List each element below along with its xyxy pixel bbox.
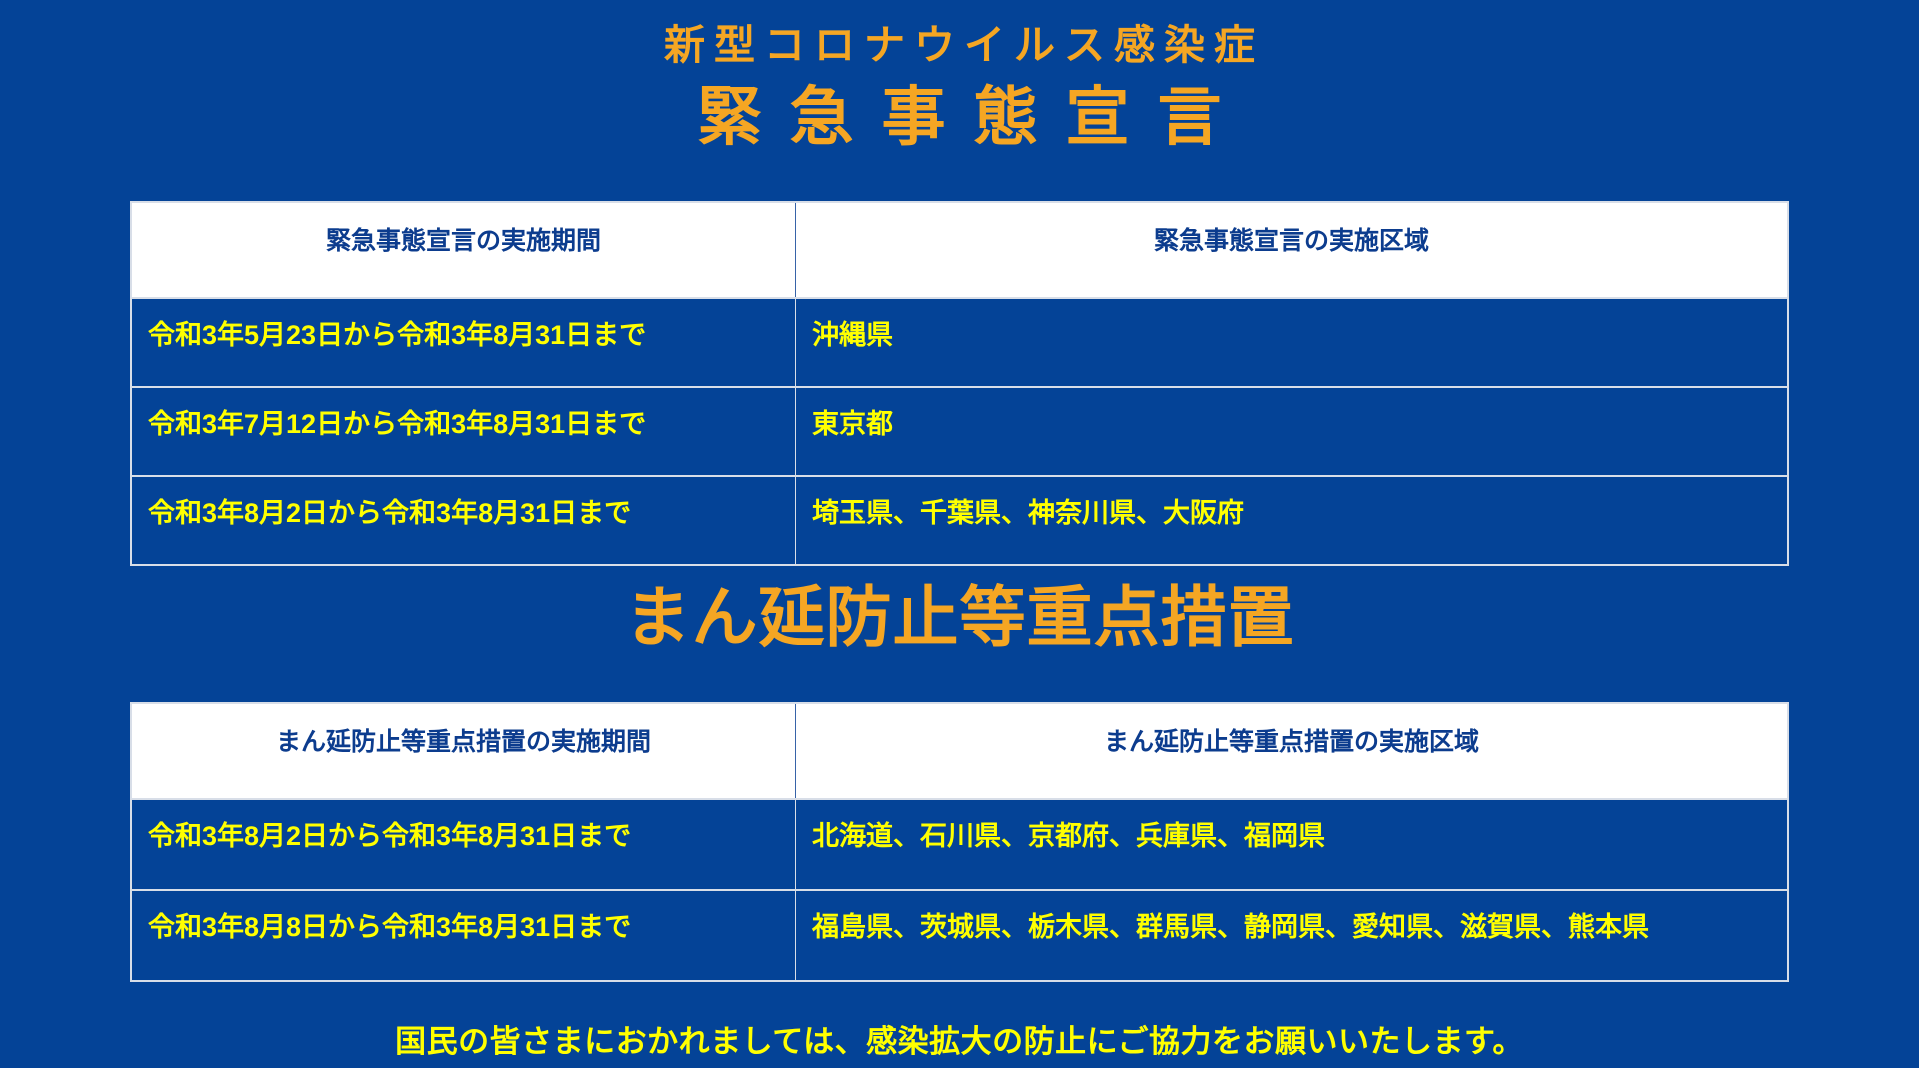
declaration-area-3: 埼玉県、千葉県、神奈川県、大阪府 <box>796 475 1787 564</box>
priority-table-body: 令和3年8月2日から令和3年8月31日まで 北海道、石川県、京都府、兵庫県、福岡… <box>132 798 1787 980</box>
spacer-above-declaration-table <box>0 157 1919 201</box>
priority-table-wrap: まん延防止等重点措置の実施期間 まん延防止等重点措置の実施区域 令和3年8月2日… <box>130 702 1789 982</box>
declaration-table: 緊急事態宣言の実施期間 緊急事態宣言の実施区域 令和3年5月23日から令和3年8… <box>130 201 1789 566</box>
priority-area-2: 福島県、茨城県、栃木県、群馬県、静岡県、愛知県、滋賀県、熊本県 <box>796 889 1787 980</box>
poster-main-title: 緊急事態宣言 <box>0 77 1919 157</box>
declaration-header-period: 緊急事態宣言の実施期間 <box>132 203 796 297</box>
declaration-table-body: 令和3年5月23日から令和3年8月31日まで 沖縄県 令和3年7月12日から令和… <box>132 297 1787 564</box>
declaration-area-2: 東京都 <box>796 386 1787 475</box>
poster-root: 新型コロナウイルス感染症 緊急事態宣言 緊急事態宣言の実施期間 緊急事態宣言の実… <box>0 0 1919 1068</box>
declaration-period-2: 令和3年7月12日から令和3年8月31日まで <box>132 386 796 475</box>
priority-header-area: まん延防止等重点措置の実施区域 <box>796 704 1787 798</box>
declaration-period-3: 令和3年8月2日から令和3年8月31日まで <box>132 475 796 564</box>
declaration-table-head: 緊急事態宣言の実施期間 緊急事態宣言の実施区域 <box>132 203 1787 297</box>
poster-subtitle: 新型コロナウイルス感染症 <box>0 20 1919 71</box>
declaration-area-1: 沖縄県 <box>796 297 1787 386</box>
spacer-above-priority-table <box>0 656 1919 702</box>
priority-period-2: 令和3年8月8日から令和3年8月31日まで <box>132 889 796 980</box>
declaration-period-1: 令和3年5月23日から令和3年8月31日まで <box>132 297 796 386</box>
declaration-header-area: 緊急事態宣言の実施区域 <box>796 203 1787 297</box>
priority-table: まん延防止等重点措置の実施期間 まん延防止等重点措置の実施区域 令和3年8月2日… <box>130 702 1789 982</box>
table-row: 令和3年8月2日から令和3年8月31日まで 埼玉県、千葉県、神奈川県、大阪府 <box>132 475 1787 564</box>
table-header-row: 緊急事態宣言の実施期間 緊急事態宣言の実施区域 <box>132 203 1787 297</box>
table-row: 令和3年7月12日から令和3年8月31日まで 東京都 <box>132 386 1787 475</box>
table-row: 令和3年8月8日から令和3年8月31日まで 福島県、茨城県、栃木県、群馬県、静岡… <box>132 889 1787 980</box>
priority-area-1: 北海道、石川県、京都府、兵庫県、福岡県 <box>796 798 1787 889</box>
footer-note: 国民の皆さまにおかれましては、感染拡大の防止にご協力をお願いいたします。 <box>0 982 1919 1061</box>
table-header-row: まん延防止等重点措置の実施期間 まん延防止等重点措置の実施区域 <box>132 704 1787 798</box>
declaration-table-wrap: 緊急事態宣言の実施期間 緊急事態宣言の実施区域 令和3年5月23日から令和3年8… <box>130 201 1789 566</box>
priority-header-period: まん延防止等重点措置の実施期間 <box>132 704 796 798</box>
title-block: 新型コロナウイルス感染症 緊急事態宣言 <box>0 0 1919 157</box>
table-row: 令和3年5月23日から令和3年8月31日まで 沖縄県 <box>132 297 1787 386</box>
priority-table-head: まん延防止等重点措置の実施期間 まん延防止等重点措置の実施区域 <box>132 704 1787 798</box>
priority-period-1: 令和3年8月2日から令和3年8月31日まで <box>132 798 796 889</box>
priority-measures-title: まん延防止等重点措置 <box>0 566 1919 656</box>
table-row: 令和3年8月2日から令和3年8月31日まで 北海道、石川県、京都府、兵庫県、福岡… <box>132 798 1787 889</box>
